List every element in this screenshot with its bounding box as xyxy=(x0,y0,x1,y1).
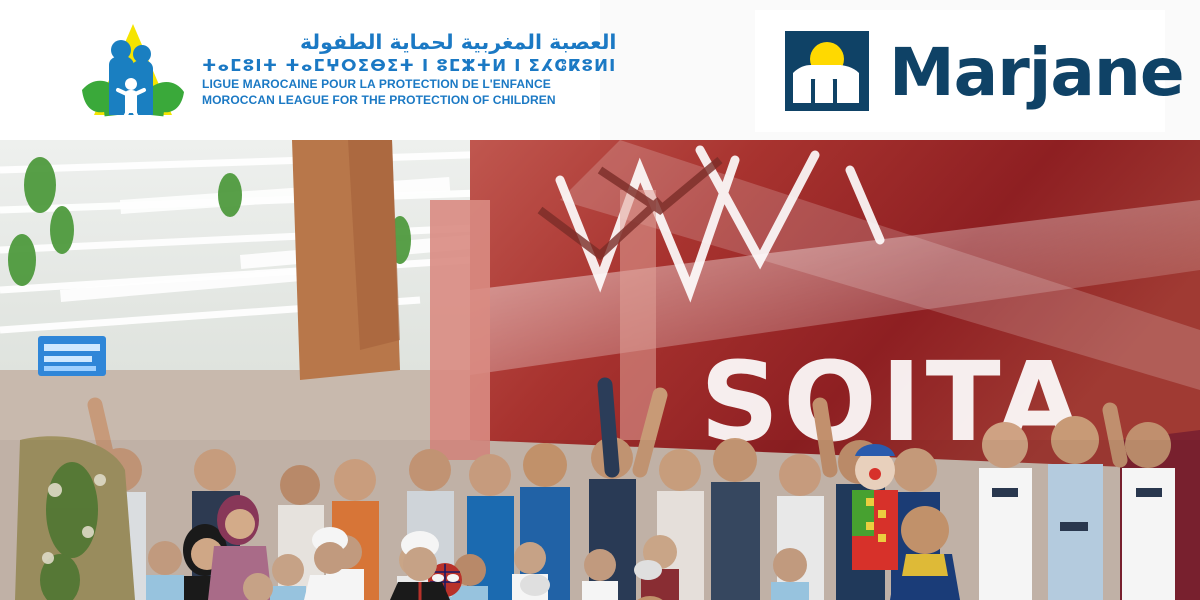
header-band: العصبة المغربية لحماية الطفولة ⵜⴰⵎⵓⵏⵜ ⵜⴰ… xyxy=(0,0,1200,140)
lmpe-french-name: LIGUE MAROCAINE POUR LA PROTECTION DE L'… xyxy=(202,77,604,93)
lmpe-arabic-name: العصبة المغربية لحماية الطفولة xyxy=(202,31,616,55)
lmpe-tifinagh-name: ⵜⴰⵎⵓⵏⵜ ⵜⴰⵎⵖⵔⵉⴱⵉⵜ ⵏ ⵓⵎⵣⵜⵍ ⵏ ⵉⵃⵛⴽⵓⵍⵏ xyxy=(202,56,616,76)
marjane-logo-block: Marjane xyxy=(755,10,1165,132)
group-photo-marjane-store-event: SOITA al xyxy=(0,140,1200,600)
marjane-square-sun-mark-icon xyxy=(783,29,871,113)
lmpe-logo-block: العصبة المغربية لحماية الطفولة ⵜⴰⵎⵓⵏⵜ ⵜⴰ… xyxy=(0,0,600,140)
lmpe-text-block: العصبة المغربية لحماية الطفولة ⵜⴰⵎⵓⵏⵜ ⵜⴰ… xyxy=(202,31,616,108)
family-sun-hills-emblem-icon xyxy=(78,18,188,123)
partnership-banner: العصبة المغربية لحماية الطفولة ⵜⴰⵎⵓⵏⵜ ⵜⴰ… xyxy=(0,0,1200,600)
lmpe-english-name: MOROCCAN LEAGUE FOR THE PROTECTION OF CH… xyxy=(202,93,604,109)
marjane-wordmark: Marjane xyxy=(889,40,1184,106)
